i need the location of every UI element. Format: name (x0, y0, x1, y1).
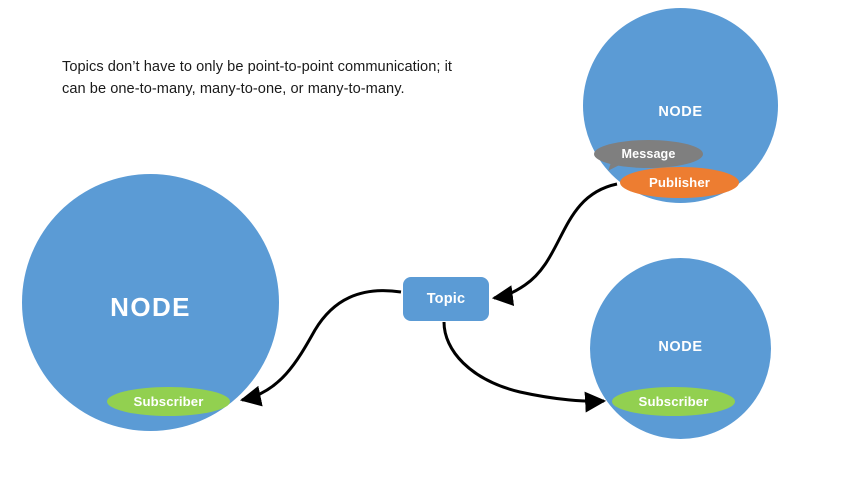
caption-line-1: Topics don’t have to only be point-to-po… (62, 56, 492, 78)
publisher-label: Publisher (649, 175, 710, 190)
topic-box[interactable]: Topic (403, 277, 489, 321)
caption-line-2: can be one-to-many, many-to-one, or many… (62, 78, 492, 100)
node-left-label: NODE (22, 292, 279, 323)
message-label: Message (622, 147, 676, 161)
node-top-right-label: NODE (583, 104, 778, 120)
publisher-pill-top-right[interactable]: Publisher (620, 167, 739, 198)
subscriber-left-label: Subscriber (134, 394, 204, 409)
arrow-topic-to-bottom-right-subscriber (444, 322, 604, 401)
diagram-canvas: Topics don’t have to only be point-to-po… (0, 0, 854, 480)
message-pill-top-right[interactable]: Message (594, 140, 703, 168)
subscriber-pill-left[interactable]: Subscriber (107, 387, 230, 416)
arrow-publisher-to-topic (494, 184, 617, 298)
subscriber-bottom-right-label: Subscriber (639, 394, 709, 409)
node-bottom-right-label: NODE (590, 339, 771, 355)
subscriber-pill-bottom-right[interactable]: Subscriber (612, 387, 735, 416)
caption-text: Topics don’t have to only be point-to-po… (62, 56, 492, 100)
topic-label: Topic (427, 291, 466, 307)
